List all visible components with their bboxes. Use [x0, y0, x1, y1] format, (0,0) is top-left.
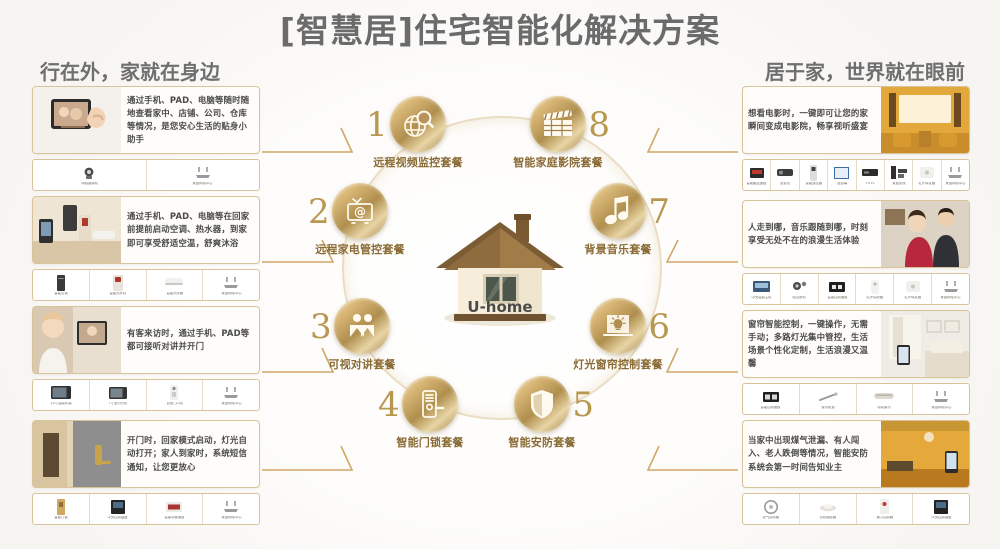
left-section-heading: 行在外，家就在身边: [40, 56, 220, 85]
monitor-at-icon: @: [332, 183, 388, 239]
right-panel-3-text: 窗帘智能控制，一键操作，无需手动；多路灯光集中管控，生活场景个性化定制，生活浪漫…: [743, 311, 881, 377]
ceiling-speaker-icon: [791, 279, 807, 295]
right-panel-1-card: 想看电影时，一键即可让您的家瞬间变成电影院，畅享视听盛宴: [742, 86, 970, 154]
list-item[interactable]: 投影幕: [828, 160, 856, 190]
list-item-label: 智能控制面板: [827, 296, 847, 299]
list-item[interactable]: 中央控制键盘: [913, 494, 969, 524]
central-house-icon: U-home: [428, 206, 572, 326]
list-item-label: 家庭网络中心: [193, 182, 213, 185]
list-item[interactable]: 电动窗帘: [857, 384, 914, 414]
node-3-label: 可视对讲套餐: [312, 356, 412, 372]
gas-detector-icon: [764, 499, 778, 515]
right-panel-1-devices: 智能触控面板 投影仪 智能遥控器 投影幕 HTPC 家庭影院: [742, 159, 970, 191]
ir-repeater-icon: [906, 279, 920, 295]
curtain-motor-icon: [874, 389, 894, 405]
right-panel-2-text: 人走到哪，音乐跟随到哪，时刻享受无处不在的浪漫生活体验: [743, 201, 881, 267]
node-7[interactable]: 7 背景音乐套餐: [568, 183, 668, 257]
list-item-label: 投影幕: [837, 182, 847, 185]
node-8-number: 8: [588, 108, 610, 142]
list-item[interactable]: 目视门口机: [147, 380, 204, 410]
solution-ring: U-home 1 远程视频监控套餐 2: [300, 88, 700, 448]
router-icon: [222, 499, 240, 515]
list-item-label: 10寸智能终端: [50, 402, 71, 405]
page-title: [智慧居]住宅智能化解决方案: [0, 4, 1000, 52]
list-item-label: 智能门锁: [54, 516, 67, 519]
router-icon: [222, 385, 240, 401]
list-item-label: 家庭网络中心: [221, 402, 241, 405]
node-8[interactable]: 8 智能家庭影院套餐: [508, 96, 608, 170]
list-item-label: 投影仪: [780, 182, 790, 185]
list-item[interactable]: 7寸室内分机: [90, 380, 147, 410]
list-item[interactable]: 智能场景面板: [147, 494, 204, 524]
bedroom-curtain-tablet-photo: [881, 311, 969, 377]
list-item-label: 中央控制键盘: [108, 516, 128, 519]
right-panel-4-card: 当家中出现煤气泄漏、有人闯入、老人跌倒等情况，智能安防系统会第一时间告知业主: [742, 420, 970, 488]
list-item[interactable]: 红外转发器: [913, 160, 941, 190]
node-1-number: 1: [366, 108, 388, 142]
list-item-label: 中央控制键盘: [931, 516, 951, 519]
list-item-label: 家庭网络中心: [945, 182, 965, 185]
left-panel-3: 有客来访时，通过手机、PAD等都可接听对讲并开门 10寸智能终端 7寸室内分机 …: [32, 306, 260, 411]
list-item[interactable]: 家庭网络中心: [932, 274, 969, 304]
projector-icon: [777, 165, 793, 181]
list-item[interactable]: 智能空调: [33, 270, 90, 300]
right-panel-2-card: 人走到哪，音乐跟随到哪，时刻享受无处不在的浪漫生活体验: [742, 200, 970, 268]
remote-control-icon: [810, 165, 817, 181]
list-item-label: 智能控制面板: [761, 406, 781, 409]
list-item-label: 无线烟感器: [819, 516, 836, 519]
scene-panel-icon: [166, 499, 182, 515]
list-item[interactable]: 智能热水机: [90, 270, 147, 300]
right-panel-1: 想看电影时，一键即可让您的家瞬间变成电影院，畅享视听盛宴 智能触控面板 投影仪 …: [742, 86, 970, 191]
list-item[interactable]: 中央智能主机: [743, 274, 781, 304]
hand-holding-phone-photo: [33, 87, 121, 153]
smoke-detector-icon: [819, 499, 837, 515]
list-item[interactable]: 红外探测器: [856, 274, 894, 304]
indoor-monitor-icon: [109, 385, 127, 401]
left-panel-3-devices: 10寸智能终端 7寸室内分机 目视门口机 家庭网络中心: [32, 379, 260, 411]
list-item-label: 红外转发器: [904, 296, 921, 299]
left-panel-1: 通过手机、PAD、电脑等随时随地查看家中、店铺、公司、仓库等情况，是您安心生活的…: [32, 86, 260, 191]
left-panel-2-text: 通过手机、PAD、电脑等在回家前提前启动空调、热水器，到家即可享受舒适空温，舒爽…: [121, 197, 259, 263]
home-theater-room-photo: [881, 87, 969, 153]
list-item-label: 吸顶音响: [793, 296, 806, 299]
list-item-label: 燃气探测器: [763, 516, 780, 519]
htpc-icon: [862, 165, 878, 181]
list-item[interactable]: 遇力控制器: [857, 494, 914, 524]
control-panel-icon: [829, 279, 845, 295]
node-8-label: 智能家庭影院套餐: [508, 154, 608, 170]
list-item-label: HTPC: [866, 182, 875, 185]
left-panel-1-text: 通过手机、PAD、电脑等随时随地查看家中、店铺、公司、仓库等情况，是您安心生活的…: [121, 87, 259, 153]
router-icon: [942, 279, 960, 295]
left-panel-4-text: 开门时，回家模式启动，灯光自动打开；家人到家时，系统短信通知，让您更放心: [121, 421, 259, 487]
touch-panel-icon: [750, 165, 764, 181]
node-3-number: 3: [310, 310, 332, 344]
list-item-label: 红外转发器: [919, 182, 936, 185]
air-conditioner-icon: [57, 275, 65, 291]
right-panel-1-text: 想看电影时，一键即可让您的家瞬间变成电影院，畅享视听盛宴: [743, 87, 881, 153]
left-panel-2-devices: 智能空调 智能热水机 智能热水器 家庭网络中心: [32, 269, 260, 301]
ip-camera-icon: [82, 165, 96, 181]
poster-canvas: [智慧居]住宅智能化解决方案 行在外，家就在身边 居于家，世界就在眼前 U-ho…: [0, 0, 1000, 549]
two-people-icon: [334, 298, 390, 354]
svg-text:U-home: U-home: [467, 298, 532, 316]
router-icon: [932, 389, 950, 405]
node-2-label: 远程家电管控套餐: [310, 241, 410, 257]
list-item-label: 家庭网络中心: [941, 296, 961, 299]
list-item[interactable]: 网络摄像机: [33, 160, 147, 190]
list-item[interactable]: 家庭网络中心: [203, 270, 259, 300]
wall-heater-icon: [165, 275, 183, 291]
list-item-label: 智能空调: [54, 292, 67, 295]
woman-video-intercom-photo: [33, 307, 121, 373]
ir-repeater-icon: [920, 165, 934, 181]
right-panel-3: 窗帘智能控制，一键操作，无需手动；多路灯光集中管控，生活场景个性化定制，生活浪漫…: [742, 310, 970, 415]
node-1[interactable]: 1 远程视频监控套餐: [368, 96, 468, 170]
node-5[interactable]: 5 智能安防套餐: [492, 376, 592, 450]
right-panel-3-card: 窗帘智能控制，一键操作，无需手动；多路灯光集中管控，生活场景个性化定制，生活浪漫…: [742, 310, 970, 378]
list-item[interactable]: 智能门锁: [33, 494, 90, 524]
list-item[interactable]: 智能遥控器: [800, 160, 828, 190]
list-item[interactable]: 家庭网络中心: [203, 380, 259, 410]
node-7-label: 背景音乐套餐: [568, 241, 668, 257]
list-item-label: 遇力控制器: [876, 516, 893, 519]
list-item-label: 家庭网络中心: [221, 292, 241, 295]
shield-icon: [514, 376, 570, 432]
right-section-heading: 居于家，世界就在眼前: [765, 56, 965, 85]
list-item[interactable]: 燃气探测器: [743, 494, 800, 524]
list-item-label: 网络摄像机: [81, 182, 98, 185]
list-item-label: 家庭影院: [892, 182, 905, 185]
router-icon: [946, 165, 964, 181]
control-panel-icon: [111, 499, 125, 515]
list-item[interactable]: 智能控制面板: [743, 384, 800, 414]
left-panel-3-card: 有客来访时，通过手机、PAD等都可接听对讲并开门: [32, 306, 260, 374]
list-item-label: 智能场景面板: [164, 516, 184, 519]
router-icon: [222, 275, 240, 291]
router-icon: [194, 165, 212, 181]
list-item[interactable]: 智能控制面板: [819, 274, 857, 304]
node-2-number: 2: [308, 195, 330, 229]
list-item-label: 智能热水机: [109, 292, 126, 295]
node-5-number: 5: [572, 388, 594, 422]
left-panel-1-devices: 网络摄像机 家庭网络中心: [32, 159, 260, 191]
list-item[interactable]: 吸顶音响: [781, 274, 819, 304]
door-station-icon: [170, 385, 178, 401]
speaker-set-icon: [891, 165, 907, 181]
right-panel-4-devices: 燃气探测器 无线烟感器 遇力控制器 中央控制键盘: [742, 493, 970, 525]
list-item[interactable]: 窗帘轨道: [800, 384, 857, 414]
list-item[interactable]: HTPC: [857, 160, 885, 190]
list-item[interactable]: 家庭网络中心: [203, 494, 259, 524]
left-panel-3-text: 有客来访时，通过手机、PAD等都可接听对讲并开门: [121, 307, 259, 373]
list-item[interactable]: 智能热水器: [147, 270, 204, 300]
list-item[interactable]: 家庭影院: [885, 160, 913, 190]
door-lock-hallway-photo: [33, 421, 121, 487]
node-6-number: 6: [648, 310, 670, 344]
list-item-label: 智能热水器: [166, 292, 183, 295]
list-item-label: 电动窗帘: [878, 406, 891, 409]
left-panel-2: 通过手机、PAD、电脑等在回家前提前启动空调、热水器，到家即可享受舒适空温，舒爽…: [32, 196, 260, 301]
left-panel-4: 开门时，回家模式启动，灯光自动打开；家人到家时，系统短信通知，让您更放心 智能门…: [32, 420, 260, 525]
water-heater-icon: [113, 275, 123, 291]
scene-panel-icon: [763, 389, 779, 405]
node-4[interactable]: 4 智能门锁套餐: [380, 376, 480, 450]
right-panel-4-text: 当家中出现煤气泄漏、有人闯入、老人跌倒等情况，智能安防系统会第一时间告知业主: [743, 421, 881, 487]
node-4-label: 智能门锁套餐: [380, 434, 480, 450]
list-item-label: 目视门口机: [166, 402, 183, 405]
emergency-button-icon: [880, 499, 889, 515]
list-item-label: 红外探测器: [867, 296, 884, 299]
node-5-label: 智能安防套餐: [492, 434, 592, 450]
left-panel-2-card: 通过手机、PAD、电脑等在回家前提前启动空调、热水器，到家即可享受舒适空温，舒爽…: [32, 196, 260, 264]
node-3[interactable]: 3 可视对讲套餐: [312, 298, 412, 372]
node-1-label: 远程视频监控套餐: [368, 154, 468, 170]
node-6-label: 灯光窗帘控制套餐: [568, 356, 668, 372]
svg-text:@: @: [354, 205, 366, 219]
lamp-curtain-icon: [590, 298, 646, 354]
control-panel-icon: [934, 499, 948, 515]
ir-detector-icon: [871, 279, 879, 295]
list-item[interactable]: 中央控制键盘: [90, 494, 147, 524]
node-7-number: 7: [648, 195, 670, 229]
list-item-label: 窗帘轨道: [821, 406, 834, 409]
right-panel-2-devices: 中央智能主机 吸顶音响 智能控制面板 红外探测器 红外转发器 家庭网络中心: [742, 273, 970, 305]
list-item[interactable]: 投影仪: [771, 160, 799, 190]
list-item-label: 中央智能主机: [751, 296, 771, 299]
left-panel-4-card: 开门时，回家模式启动，灯光自动打开；家人到家时，系统短信通知，让您更放心: [32, 420, 260, 488]
node-2[interactable]: 2 @ 远程家电管控套餐: [310, 183, 410, 257]
indoor-monitor-icon: [51, 385, 71, 401]
list-item[interactable]: 10寸智能终端: [33, 380, 90, 410]
right-panel-4: 当家中出现煤气泄漏、有人闯入、老人跌倒等情况，智能安防系统会第一时间告知业主 燃…: [742, 420, 970, 525]
list-item[interactable]: 红外转发器: [894, 274, 932, 304]
list-item-label: 智能遥控器: [805, 182, 822, 185]
list-item[interactable]: 家庭网络中心: [942, 160, 969, 190]
list-item-label: 智能触控面板: [747, 182, 767, 185]
list-item[interactable]: 家庭网络中心: [147, 160, 260, 190]
list-item[interactable]: 无线烟感器: [800, 494, 857, 524]
left-panel-4-devices: 智能门锁 中央控制键盘 智能场景面板 家庭网络中心: [32, 493, 260, 525]
dancing-couple-photo: [881, 201, 969, 267]
list-item-label: 7寸室内分机: [108, 402, 127, 405]
node-4-number: 4: [378, 388, 400, 422]
right-panel-2: 人走到哪，音乐跟随到哪，时刻享受无处不在的浪漫生活体验 中央智能主机 吸顶音响 …: [742, 200, 970, 305]
list-item[interactable]: 家庭网络中心: [913, 384, 969, 414]
central-host-icon: [753, 279, 770, 295]
music-note-icon: [590, 183, 646, 239]
door-lock-icon: [57, 499, 65, 515]
curtain-rail-icon: [818, 389, 838, 405]
node-6[interactable]: 6 灯光窗帘控制套餐: [568, 298, 668, 372]
right-panel-3-devices: 智能控制面板 窗帘轨道 电动窗帘 家庭网络中心: [742, 383, 970, 415]
globe-search-icon: [390, 96, 446, 152]
door-lock-icon: [402, 376, 458, 432]
screen-icon: [834, 165, 849, 181]
left-panel-1-card: 通过手机、PAD、电脑等随时随地查看家中、店铺、公司、仓库等情况，是您安心生活的…: [32, 86, 260, 154]
kitchen-gas-alarm-photo: [881, 421, 969, 487]
list-item-label: 家庭网络中心: [931, 406, 951, 409]
list-item-label: 家庭网络中心: [221, 516, 241, 519]
list-item[interactable]: 智能触控面板: [743, 160, 771, 190]
film-clapper-icon: [530, 96, 586, 152]
smart-appliance-room-photo: [33, 197, 121, 263]
